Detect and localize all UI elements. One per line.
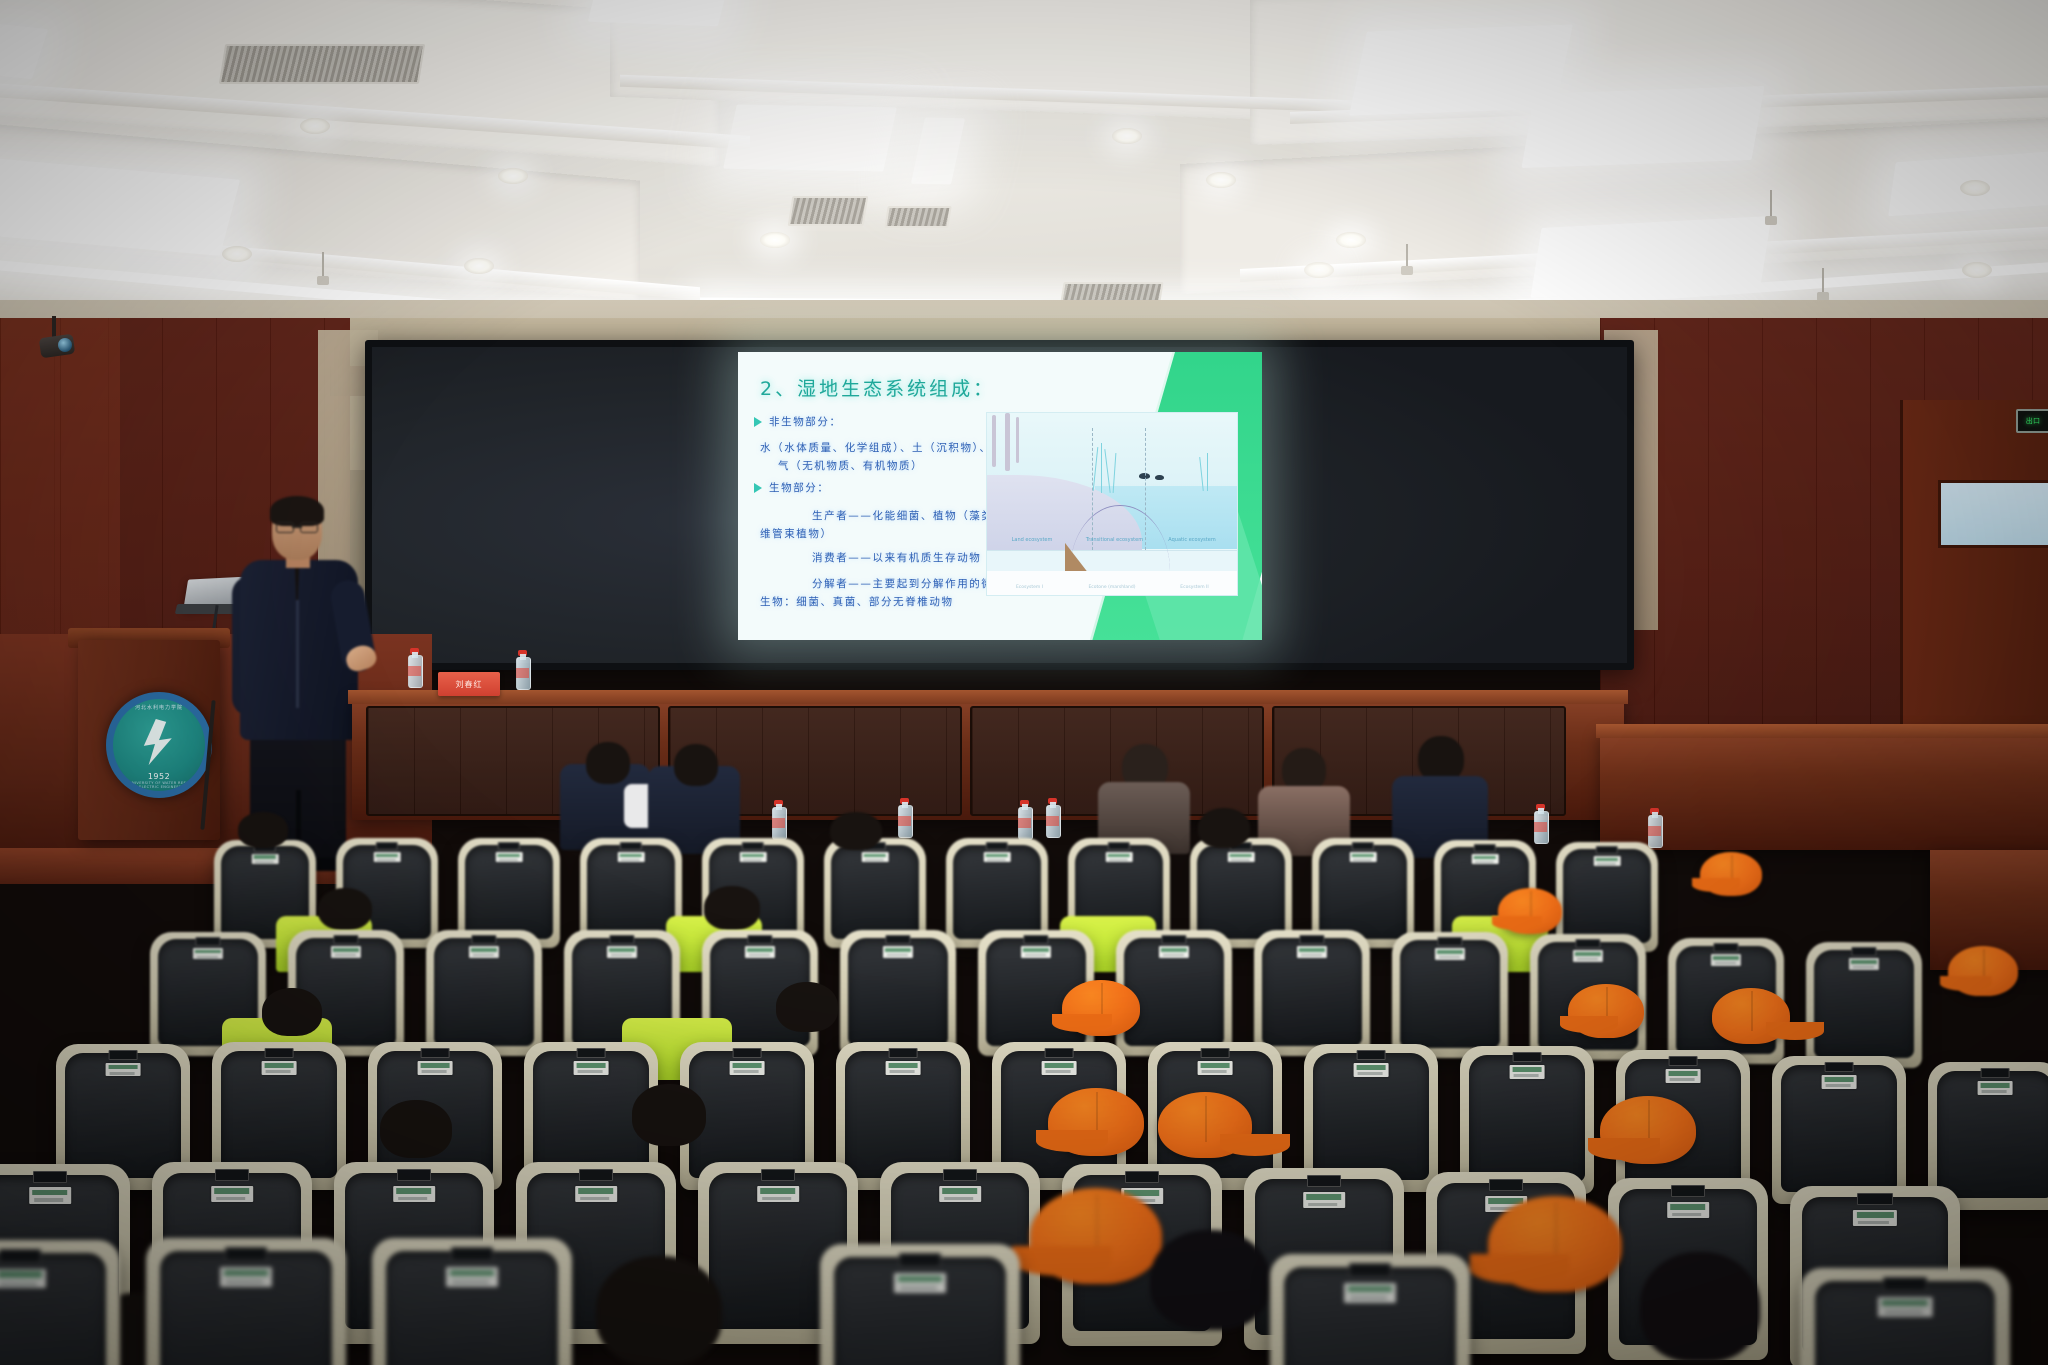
seat[interactable] — [1062, 1164, 1222, 1346]
slide-line-4: 维管束植物） — [760, 526, 833, 543]
ceiling-air-vent — [884, 206, 951, 228]
ceiling-air-vent — [1060, 282, 1163, 302]
sprinkler-drop — [1770, 190, 1772, 218]
slide-line-3: 生产者——化能细菌、植物（藻类、 — [812, 508, 1006, 525]
seat[interactable] — [516, 1162, 676, 1344]
student-head — [238, 812, 288, 848]
ceiling-downlight — [498, 168, 528, 184]
water-bottle[interactable] — [1648, 808, 1661, 848]
student-orange-cap — [1158, 1092, 1252, 1158]
diagram-zone-aquatic: Aquatic ecosystem — [1157, 537, 1227, 544]
slide-title: 2、湿地生态系统组成： — [760, 374, 995, 401]
ceiling-panel-light — [588, 0, 726, 26]
side-desk-right — [1600, 730, 2048, 850]
ceiling-downlight — [222, 246, 252, 262]
diagram-axis-ecotone: Ecotone (marshland) — [1077, 585, 1147, 591]
wetland-ecosystem-diagram: Land ecosystem Transitional ecosystem Aq… — [986, 412, 1238, 596]
slide-line-2: 气（无机物质、有机物质） — [778, 458, 923, 475]
diagram-axis-ecosystem-1: Ecosystem I — [992, 585, 1067, 591]
diagram-axis-ecosystem-2: Ecosystem II — [1157, 585, 1232, 591]
university-emblem: 河北水利电力学院 1952 HEBEI UNIVERSITY OF WATER … — [106, 692, 212, 798]
name-card: 刘春红 — [438, 672, 500, 696]
water-bottle[interactable] — [408, 648, 421, 688]
diagram-tree — [1016, 417, 1019, 463]
ceiling-downlight — [1336, 232, 1366, 248]
water-bottle[interactable] — [772, 800, 785, 840]
diagram-zone-transitional: Transitional ecosystem — [1082, 537, 1147, 544]
seat[interactable] — [1772, 1056, 1906, 1204]
seat[interactable] — [1806, 942, 1922, 1068]
student-head — [1198, 808, 1250, 848]
ceiling-downlight — [1960, 180, 1990, 196]
sprinkler-head — [1401, 266, 1413, 275]
ceiling-air-vent — [788, 196, 869, 226]
emblem-english-text: HEBEI UNIVERSITY OF WATER RESOURCES AND … — [113, 781, 205, 789]
door-window — [1938, 480, 2048, 548]
seat[interactable] — [880, 1162, 1040, 1344]
slide-bullet-1: 非生物部分： — [769, 414, 842, 431]
ceiling-downlight — [1206, 172, 1236, 188]
slide-bullet-2: 生物部分： — [769, 480, 830, 497]
student-head — [318, 888, 372, 930]
slide-line-5: 消费者——以来有机质生存动物 — [812, 550, 981, 567]
seat[interactable] — [1392, 932, 1508, 1058]
attendee-head — [586, 742, 630, 784]
seat[interactable] — [1608, 1178, 1768, 1360]
seat[interactable] — [698, 1162, 858, 1344]
water-bottle[interactable] — [1046, 798, 1059, 838]
ceiling-downlight — [1962, 262, 1992, 278]
ceiling-downlight — [1304, 262, 1334, 278]
side-desk-right-top — [1596, 724, 2048, 738]
presenter-zipper — [296, 600, 299, 708]
student-head — [704, 886, 760, 930]
camera-lens-icon — [58, 338, 72, 352]
emblem-chinese-text: 河北水利电力学院 — [113, 704, 205, 711]
sprinkler-drop — [1822, 268, 1824, 294]
student-orange-cap — [1948, 946, 2018, 996]
diagram-tree — [1005, 413, 1010, 471]
bullet-triangle-icon — [754, 417, 762, 427]
water-bottle[interactable] — [1534, 804, 1547, 844]
exit-door[interactable] — [1900, 400, 2048, 730]
emblem-swoosh-icon — [139, 719, 179, 767]
student-orange-cap — [1712, 988, 1790, 1044]
student-orange-cap — [1600, 1096, 1696, 1164]
seat[interactable] — [0, 1164, 130, 1344]
seat[interactable] — [1790, 1186, 1960, 1365]
slide-line-6: 分解者——主要起到分解作用的微小 — [812, 576, 1006, 593]
ceiling-panel-light — [1521, 86, 1764, 168]
ceiling-air-vent — [219, 44, 425, 84]
ceiling-panel-light — [723, 105, 897, 172]
seat[interactable] — [1244, 1168, 1404, 1350]
diagram-tree — [992, 415, 996, 467]
sprinkler-drop — [322, 252, 324, 278]
seat[interactable] — [152, 1162, 312, 1344]
bullet-triangle-icon — [754, 483, 762, 493]
student-orange-cap — [1062, 980, 1140, 1036]
water-bottle[interactable] — [898, 798, 911, 838]
slide-line-7: 生物：细菌、真菌、部分无脊椎动物 — [760, 594, 954, 611]
front-desk-top — [348, 690, 1628, 704]
student-orange-cap — [1568, 984, 1644, 1038]
lecture-hall-photo: 出口 2、湿地生态系统组成： 非生物部分： 水（水体质量、化学组成）、土（沉积物… — [0, 0, 2048, 1365]
ceiling-downlight — [760, 232, 790, 248]
seat[interactable] — [1254, 930, 1370, 1056]
diagram-bird — [1155, 475, 1164, 480]
exit-sign: 出口 — [2016, 409, 2048, 433]
ceiling-downlight — [1112, 128, 1142, 144]
ceiling-downlight — [464, 258, 494, 274]
presentation-slide: 2、湿地生态系统组成： 非生物部分： 水（水体质量、化学组成）、土（沉积物）、 … — [738, 352, 1262, 640]
exit-sign-label: 出口 — [2026, 416, 2041, 426]
student-orange-cap — [1700, 852, 1762, 896]
seat[interactable] — [334, 1162, 494, 1344]
water-bottle[interactable] — [1018, 800, 1031, 840]
seat[interactable] — [426, 930, 542, 1056]
seat[interactable] — [1426, 1172, 1586, 1354]
student-orange-cap — [1498, 888, 1562, 934]
student-head — [830, 812, 882, 850]
diagram-reed — [1101, 443, 1102, 493]
ceiling-downlight — [300, 118, 330, 134]
diagram-axis-band — [987, 571, 1237, 595]
student-orange-cap — [1048, 1088, 1144, 1156]
student-head — [776, 982, 838, 1032]
slide-line-1: 水（水体质量、化学组成）、土（沉积物）、 — [760, 440, 992, 457]
diagram-reed — [1207, 453, 1208, 491]
water-bottle[interactable] — [516, 650, 529, 690]
seat[interactable] — [840, 930, 956, 1056]
diagram-zone-land: Land ecosystem — [997, 537, 1067, 544]
student-head — [632, 1084, 706, 1146]
sprinkler-drop — [1406, 244, 1408, 268]
student-head — [262, 988, 322, 1036]
emblem-year: 1952 — [113, 772, 205, 781]
sprinkler-head — [317, 276, 329, 285]
presenter-glasses-icon — [276, 522, 318, 531]
sprinkler-head — [1765, 216, 1777, 225]
attendee-head — [674, 744, 718, 786]
name-card-label: 刘春红 — [456, 679, 483, 690]
student-head — [380, 1100, 452, 1158]
